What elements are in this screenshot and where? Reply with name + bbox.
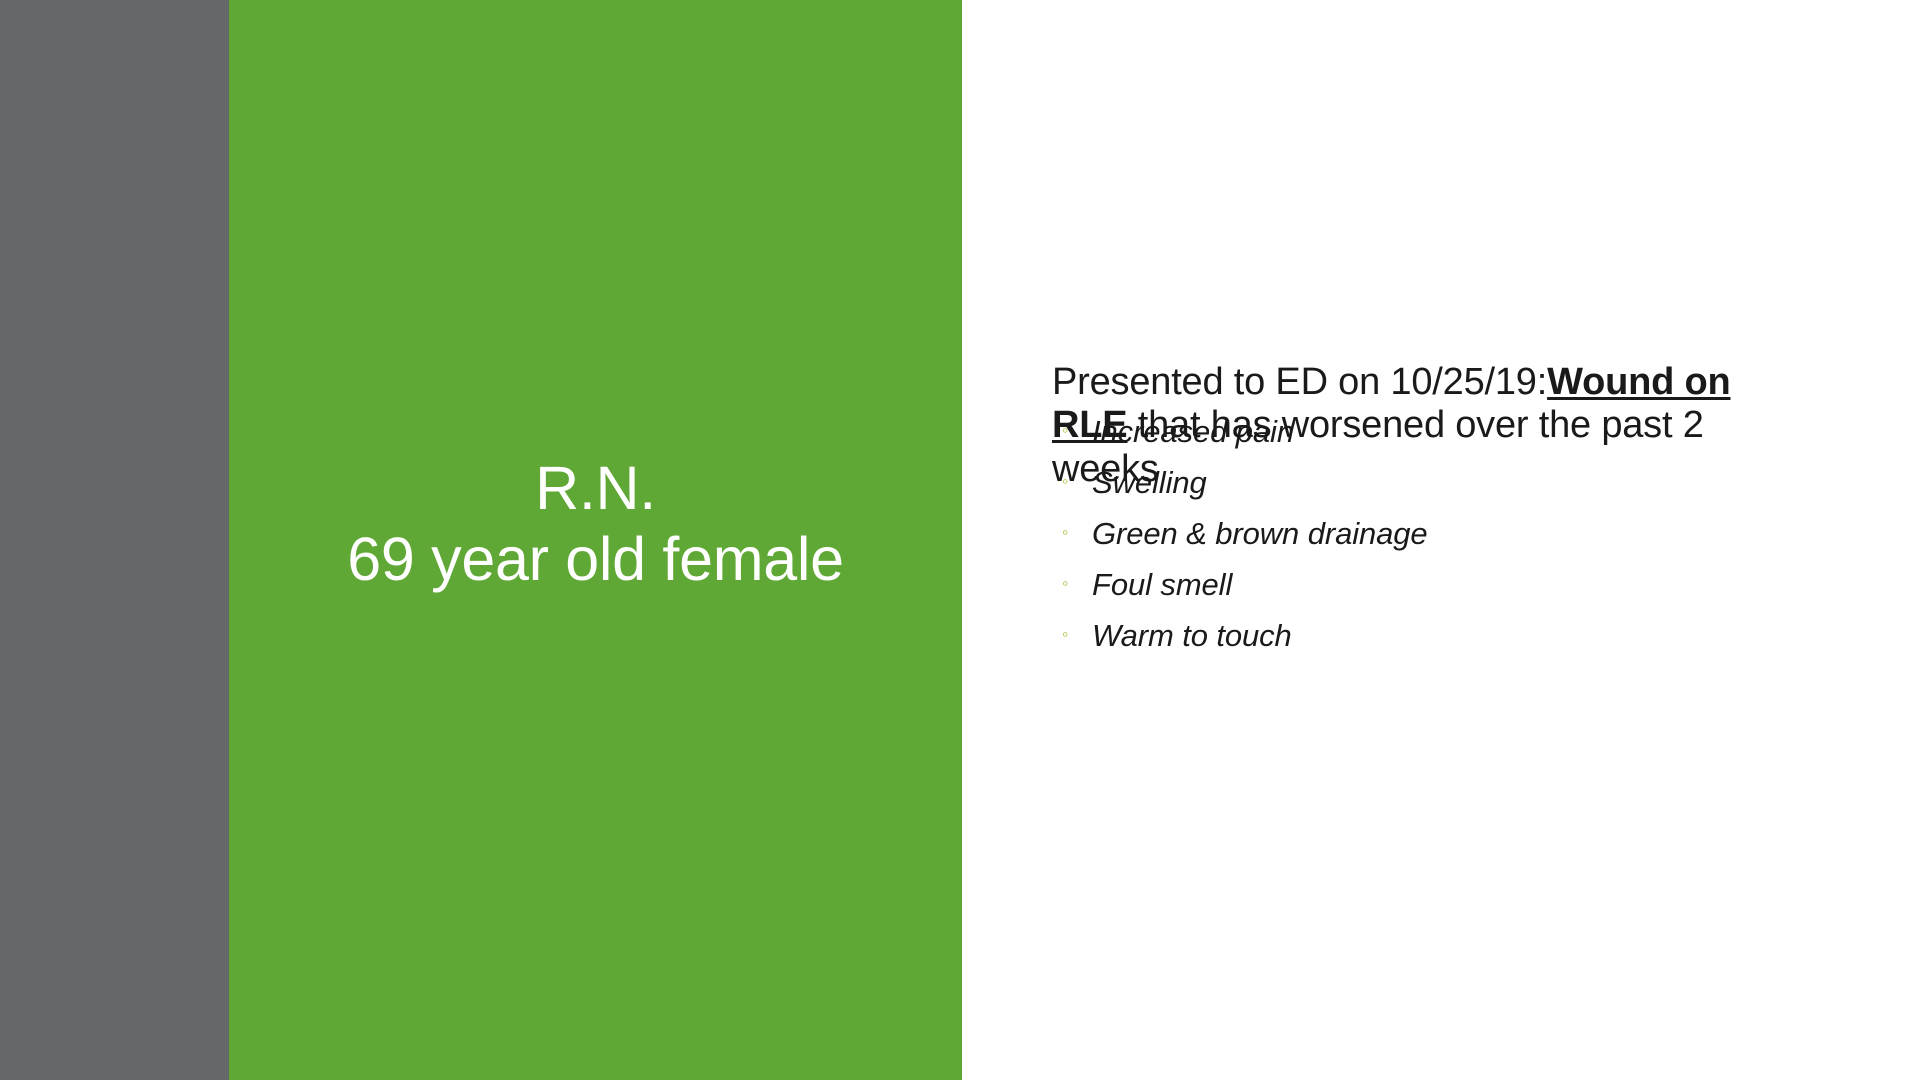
content-panel: Presented to ED on 10/25/19:Wound on RLE… (962, 0, 1920, 1080)
left-gray-accent-band (0, 0, 229, 1080)
title-line-patient-initials: R.N. (229, 453, 962, 524)
list-item-label: Warm to touch (1092, 619, 1842, 653)
hollow-circle-bullet-icon: ◦ (1062, 472, 1092, 490)
hollow-circle-bullet-icon: ◦ (1062, 421, 1092, 439)
list-item-label: Foul smell (1092, 568, 1842, 602)
list-item: ◦ Foul smell (1062, 568, 1842, 602)
list-item: ◦ Swelling (1062, 466, 1842, 500)
hollow-circle-bullet-icon: ◦ (1062, 625, 1092, 643)
hollow-circle-bullet-icon: ◦ (1062, 523, 1092, 541)
title-panel: R.N. 69 year old female (229, 0, 962, 1080)
title-line-patient-description: 69 year old female (229, 524, 962, 595)
slide-title: R.N. 69 year old female (229, 453, 962, 595)
list-item-label: Increased pain (1092, 415, 1842, 449)
slide: R.N. 69 year old female Presented to ED … (0, 0, 1920, 1080)
list-item: ◦ Green & brown drainage (1062, 517, 1842, 551)
list-item: ◦ Increased pain (1062, 415, 1842, 449)
list-item: ◦ Warm to touch (1062, 619, 1842, 653)
hollow-circle-bullet-icon: ◦ (1062, 574, 1092, 592)
list-item-label: Swelling (1092, 466, 1842, 500)
lead-prefix-text: Presented to ED on 10/25/19: (1052, 361, 1547, 403)
list-item-label: Green & brown drainage (1092, 517, 1842, 551)
symptom-bullet-list: ◦ Increased pain ◦ Swelling ◦ Green & br… (1062, 415, 1842, 670)
